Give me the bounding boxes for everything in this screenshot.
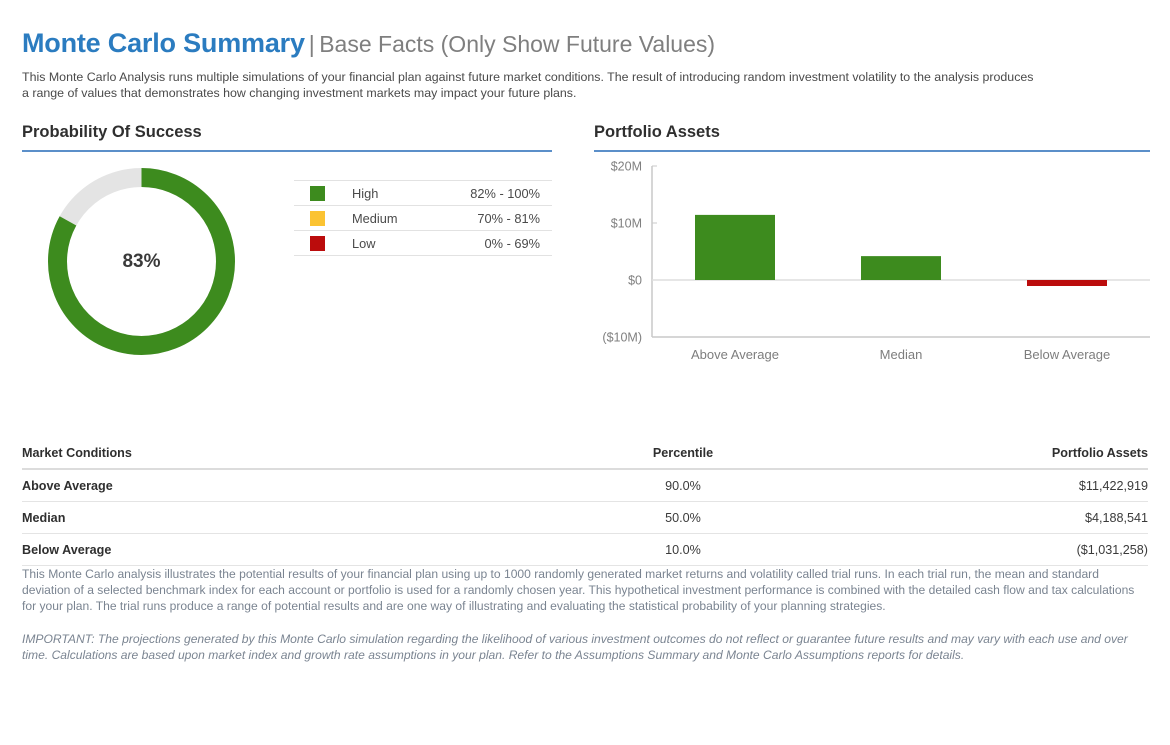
legend-label-medium: Medium: [352, 211, 477, 226]
cell-portfolio-assets: $11,422,919: [848, 469, 1148, 502]
donut-svg: [44, 164, 239, 359]
column-header-market-conditions: Market Conditions: [22, 446, 518, 469]
cell-market-condition: Above Average: [22, 469, 518, 502]
legend-label-high: High: [352, 186, 470, 201]
page-title-main: Monte Carlo Summary: [22, 28, 305, 58]
page-title: Monte Carlo Summary| Base Facts (Only Sh…: [22, 30, 1148, 57]
probability-section-title: Probability Of Success: [22, 123, 552, 142]
table-header-row: Market Conditions Percentile Portfolio A…: [22, 446, 1148, 469]
legend-swatch-high: [310, 186, 325, 201]
page-title-subtitle: Base Facts (Only Show Future Values): [319, 31, 715, 57]
y-axis-tick-label: $20M: [611, 160, 642, 174]
cell-market-condition: Below Average: [22, 534, 518, 566]
table-row: Below Average 10.0% ($1,031,258): [22, 534, 1148, 566]
probability-donut-chart: 83%: [44, 164, 239, 359]
cell-percentile: 90.0%: [518, 469, 848, 502]
portfolio-assets-panel: Portfolio Assets $20M$10M$0($10M)Above A…: [594, 123, 1150, 382]
y-axis-tick-label: ($10M): [602, 331, 642, 345]
legend-item-high: High 82% - 100%: [294, 181, 552, 206]
cell-percentile: 10.0%: [518, 534, 848, 566]
portfolio-assets-chart: $20M$10M$0($10M)Above AverageMedianBelow…: [594, 152, 1150, 382]
bar: [695, 215, 775, 280]
bar: [861, 256, 941, 280]
table-row: Above Average 90.0% $11,422,919: [22, 469, 1148, 502]
cell-portfolio-assets: ($1,031,258): [848, 534, 1148, 566]
legend-swatch-low: [310, 236, 325, 251]
x-axis-category-label: Above Average: [691, 347, 779, 362]
y-axis-tick-label: $0: [628, 274, 642, 288]
market-conditions-table: Market Conditions Percentile Portfolio A…: [22, 446, 1148, 566]
legend-range-medium: 70% - 81%: [477, 211, 552, 226]
legend-item-medium: Medium 70% - 81%: [294, 206, 552, 231]
probability-section-body: 83% High 82% - 100% Medium 70% - 81% Low…: [22, 152, 552, 382]
bar-chart-svg: $20M$10M$0($10M)Above AverageMedianBelow…: [594, 152, 1150, 377]
legend-item-low: Low 0% - 69%: [294, 231, 552, 256]
footnote-paragraph-1: This Monte Carlo analysis illustrates th…: [22, 566, 1148, 614]
legend-range-high: 82% - 100%: [470, 186, 552, 201]
y-axis-tick-label: $10M: [611, 217, 642, 231]
column-header-percentile: Percentile: [518, 446, 848, 469]
cell-percentile: 50.0%: [518, 502, 848, 534]
probability-legend: High 82% - 100% Medium 70% - 81% Low 0% …: [294, 180, 552, 256]
legend-range-low: 0% - 69%: [485, 236, 552, 251]
footnotes: This Monte Carlo analysis illustrates th…: [22, 566, 1148, 663]
table-row: Median 50.0% $4,188,541: [22, 502, 1148, 534]
legend-swatch-medium: [310, 211, 325, 226]
cell-market-condition: Median: [22, 502, 518, 534]
column-header-portfolio-assets: Portfolio Assets: [848, 446, 1148, 469]
bar: [1027, 280, 1107, 286]
legend-label-low: Low: [352, 236, 485, 251]
page-title-separator: |: [305, 31, 315, 57]
footnote-paragraph-important: IMPORTANT: The projections generated by …: [22, 631, 1148, 663]
portfolio-section-title: Portfolio Assets: [594, 123, 1150, 142]
cell-portfolio-assets: $4,188,541: [848, 502, 1148, 534]
page-header: Monte Carlo Summary| Base Facts (Only Sh…: [22, 30, 1148, 101]
x-axis-category-label: Median: [880, 347, 923, 362]
x-axis-category-label: Below Average: [1024, 347, 1111, 362]
probability-of-success-panel: Probability Of Success 83% High 82% - 10…: [22, 123, 552, 382]
intro-description: This Monte Carlo Analysis runs multiple …: [22, 70, 1037, 101]
